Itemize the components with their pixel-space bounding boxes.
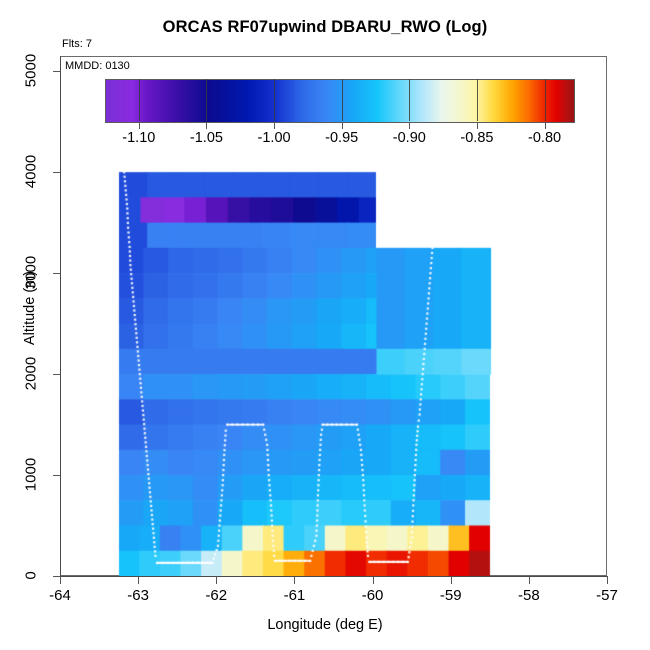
colorbar-tick-label: -1.10 — [122, 130, 155, 146]
colorbar-tick — [545, 123, 546, 129]
x-axis-tick — [607, 576, 608, 584]
colorbar-tick-label: -1.05 — [190, 130, 223, 146]
colorbar-separator — [477, 79, 478, 121]
x-axis-tick-label: -62 — [205, 587, 227, 604]
flights-annotation: Flts: 7 — [62, 38, 92, 50]
x-axis-tick — [216, 576, 217, 584]
colorbar-tick — [409, 123, 410, 129]
colorbar-tick-label: -0.85 — [460, 130, 493, 146]
y-axis-tick — [53, 475, 61, 476]
x-axis-tick-label: -63 — [127, 587, 149, 604]
x-axis-tick-label: -64 — [49, 587, 71, 604]
x-axis-tick-label: -57 — [596, 587, 618, 604]
colorbar-tick-label: -1.00 — [258, 130, 291, 146]
colorbar-separator — [409, 79, 410, 121]
colorbar-tick-label: -0.95 — [325, 130, 358, 146]
y-axis-title: Altitude (m) — [22, 188, 38, 428]
y-axis-tick — [53, 71, 61, 72]
x-axis-tick — [373, 576, 374, 584]
colorbar: -1.10-1.05-1.00-0.95-0.90-0.85-0.80 — [105, 79, 575, 123]
colorbar-separator — [139, 79, 140, 121]
y-axis-tick-label: 4000 — [23, 155, 40, 189]
y-axis-tick-label: 2000 — [23, 357, 40, 391]
colorbar-separator — [545, 79, 546, 121]
x-axis-tick-label: -59 — [440, 587, 462, 604]
figure-title: ORCAS RF07upwind DBARU_RWO (Log) — [0, 18, 650, 37]
x-axis-tick-label: -58 — [518, 587, 540, 604]
x-axis-tick — [294, 576, 295, 584]
colorbar-tick — [274, 123, 275, 129]
y-axis-line — [60, 56, 61, 576]
y-axis-tick-label: 3000 — [23, 256, 40, 290]
colorbar-tick-label: -0.80 — [528, 130, 561, 146]
y-axis-tick-label: 0 — [23, 559, 40, 593]
x-axis-title: Longitude (deg E) — [0, 617, 650, 633]
y-axis-tick-label: 1000 — [23, 458, 40, 492]
colorbar-gradient — [105, 79, 575, 123]
figure-root: ORCAS RF07upwind DBARU_RWO (Log) Flts: 7… — [0, 0, 650, 650]
colorbar-separator — [342, 79, 343, 121]
colorbar-tick — [477, 123, 478, 129]
y-axis-tick — [53, 374, 61, 375]
colorbar-tick-label: -0.90 — [393, 130, 426, 146]
colorbar-separator — [206, 79, 207, 121]
y-axis-tick-label: 5000 — [23, 54, 40, 88]
colorbar-tick — [342, 123, 343, 129]
x-axis-tick-label: -60 — [362, 587, 384, 604]
colorbar-tick — [206, 123, 207, 129]
x-axis-tick — [529, 576, 530, 584]
x-axis-tick — [60, 576, 61, 584]
x-axis-tick — [451, 576, 452, 584]
colorbar-tick — [139, 123, 140, 129]
x-axis-line — [60, 576, 607, 577]
colorbar-separator — [274, 79, 275, 121]
y-axis-tick — [53, 576, 61, 577]
x-axis-tick-label: -61 — [284, 587, 306, 604]
y-axis-tick — [53, 172, 61, 173]
y-axis-tick — [53, 273, 61, 274]
x-axis-tick — [138, 576, 139, 584]
